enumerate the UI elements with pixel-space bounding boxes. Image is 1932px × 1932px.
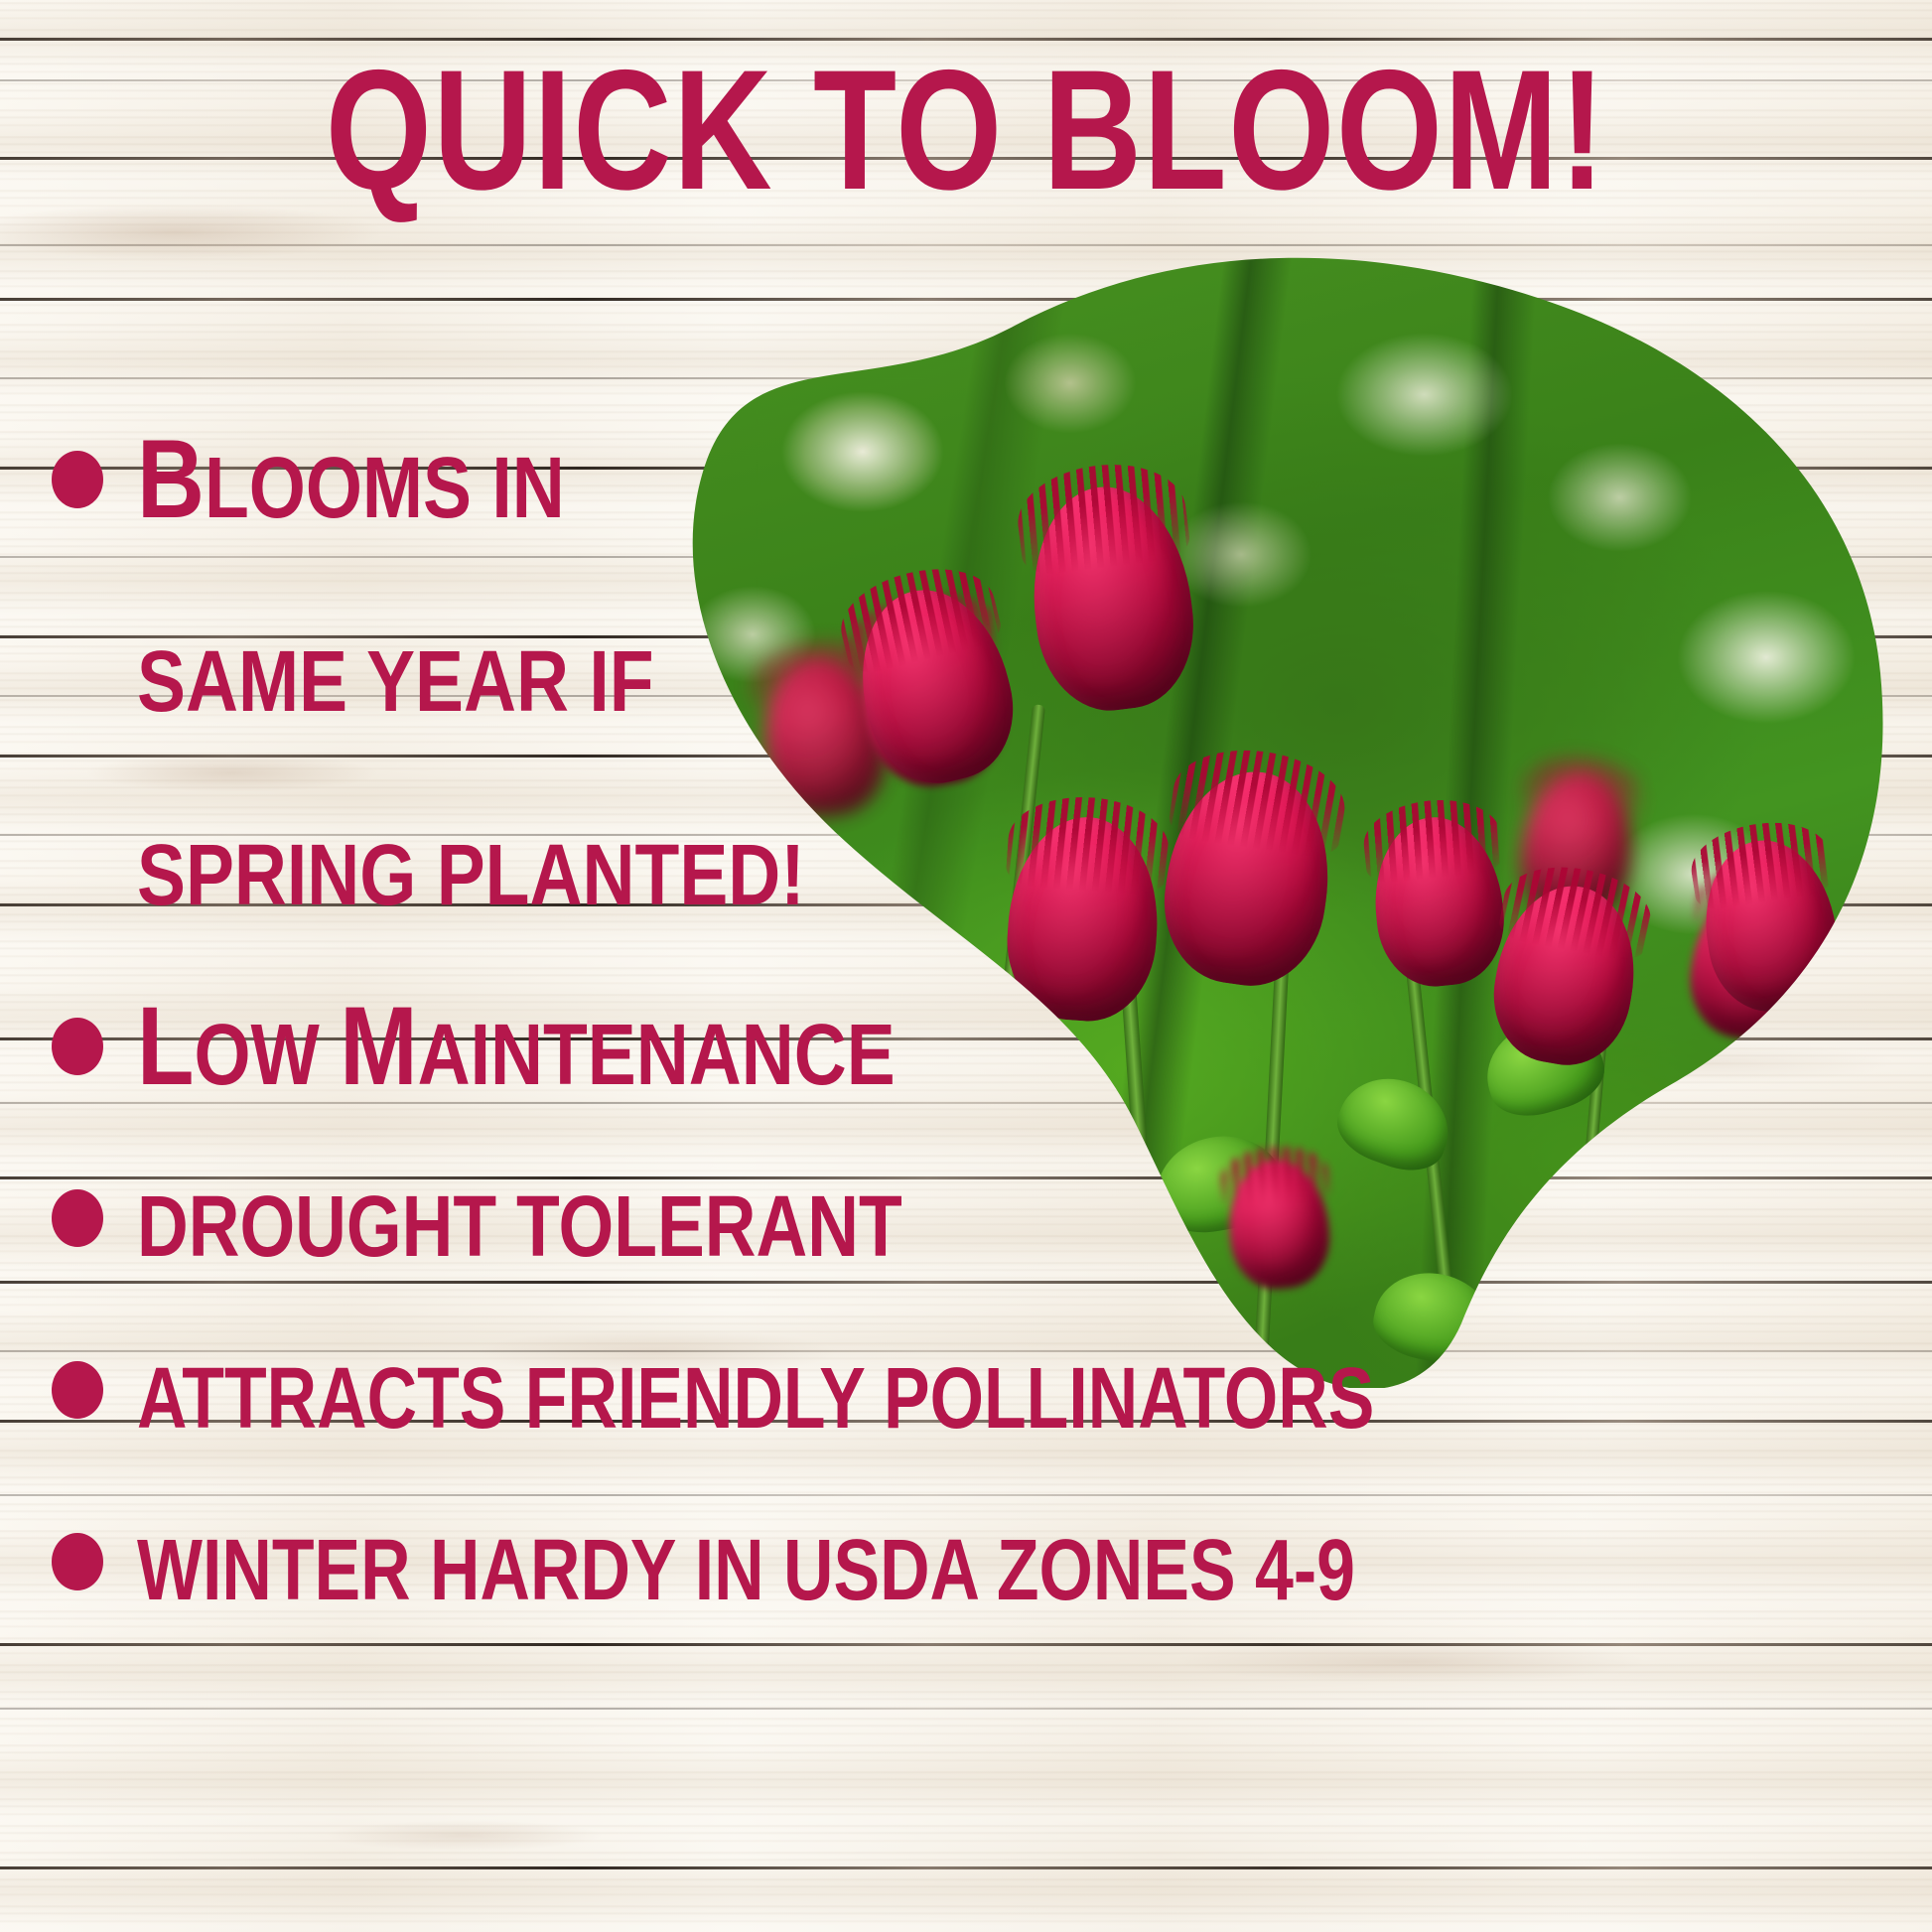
feature-list: Blooms in same year if spring planted! L… <box>52 415 1898 1631</box>
list-item-label: Blooms in <box>137 415 565 543</box>
list-item: attracts friendly pollinators <box>52 1325 1898 1453</box>
poster-canvas: QUICK TO BLOOM! <box>0 0 1932 1932</box>
bullet-spacer <box>52 838 103 896</box>
list-item-label: winter hardy in usda zones 4-9 <box>137 1497 1355 1625</box>
list-item: drought tolerant <box>52 1154 1898 1282</box>
list-item-label: Low Maintenance <box>137 982 896 1110</box>
page-title: QUICK TO BLOOM! <box>194 44 1739 217</box>
list-item: same year if <box>52 609 1898 737</box>
bullet-dot-icon <box>52 451 103 508</box>
list-item: Blooms in <box>52 415 1898 543</box>
bullet-dot-icon <box>52 1189 103 1247</box>
list-item: spring planted! <box>52 802 1898 930</box>
list-item-label: attracts friendly pollinators <box>137 1325 1374 1453</box>
list-item-label: same year if <box>137 609 654 737</box>
list-item-label: spring planted! <box>137 802 805 930</box>
bullet-dot-icon <box>52 1361 103 1419</box>
list-item: Low Maintenance <box>52 982 1898 1110</box>
bullet-spacer <box>52 644 103 702</box>
list-item-label: drought tolerant <box>137 1154 902 1282</box>
bullet-dot-icon <box>52 1533 103 1590</box>
list-item: winter hardy in usda zones 4-9 <box>52 1497 1898 1625</box>
bullet-dot-icon <box>52 1018 103 1075</box>
